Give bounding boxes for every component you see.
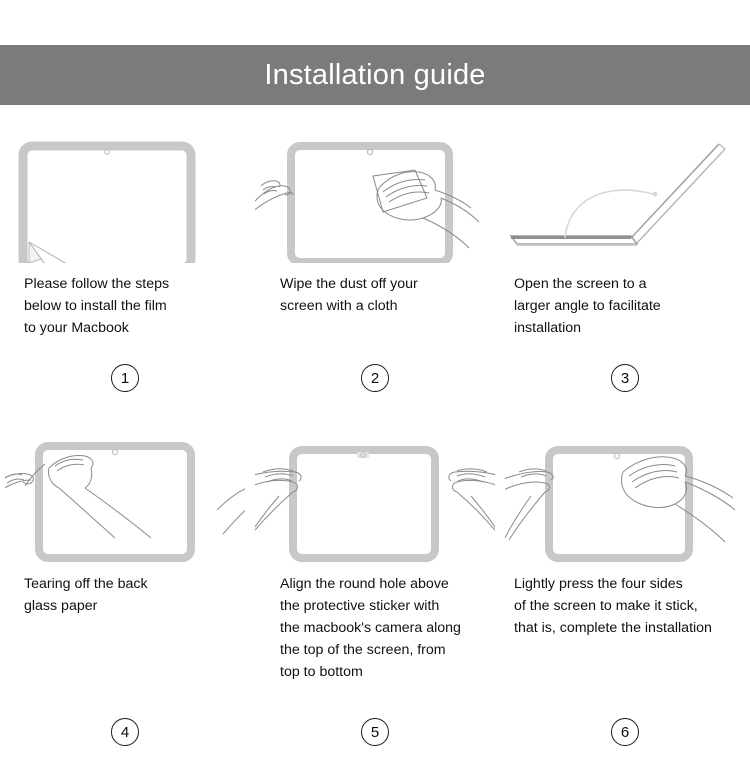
step-6: Lightly press the four sides of the scre…	[500, 420, 750, 760]
step-number-badge: 2	[361, 364, 389, 392]
step-1-number-wrap: 1	[0, 364, 250, 392]
step-6-number-wrap: 6	[500, 718, 750, 746]
step-3: Open the screen to a larger angle to fac…	[500, 120, 750, 420]
step-number-badge: 6	[611, 718, 639, 746]
step-4-caption: Tearing off the back glass paper	[0, 573, 250, 617]
step-5-number-wrap: 5	[250, 718, 500, 746]
step-1-illustration	[5, 138, 245, 263]
step-6-caption: Lightly press the four sides of the scre…	[500, 573, 750, 639]
step-4: Tearing off the back glass paper 4	[0, 420, 250, 760]
step-2: Wipe the dust off your screen with a clo…	[250, 120, 500, 420]
step-4-number-wrap: 4	[0, 718, 250, 746]
step-2-number-wrap: 2	[250, 364, 500, 392]
installation-guide-page: Installation guide Please follow the ste…	[0, 0, 750, 750]
step-5-caption: Align the round hole above the protectiv…	[250, 573, 500, 683]
step-2-caption: Wipe the dust off your screen with a clo…	[250, 273, 500, 317]
page-title: Installation guide	[264, 59, 485, 92]
step-3-number-wrap: 3	[500, 364, 750, 392]
step-5: Align the round hole above the protectiv…	[250, 420, 500, 760]
step-4-illustration	[5, 438, 245, 563]
two-hands-aligning-film-icon	[255, 450, 495, 558]
hands-wiping-screen-with-cloth-icon	[255, 146, 479, 262]
step-number-badge: 4	[111, 718, 139, 746]
hands-pressing-film-sides-icon	[505, 450, 735, 558]
step-number-badge: 1	[111, 364, 139, 392]
steps-grid: Please follow the steps below to install…	[0, 120, 750, 760]
step-number-badge: 5	[361, 718, 389, 746]
hands-tearing-back-paper-icon	[5, 446, 245, 558]
step-3-illustration	[505, 138, 745, 263]
laptop-opened-at-angle-icon	[511, 144, 725, 246]
step-1-caption: Please follow the steps below to install…	[0, 273, 250, 339]
header-band: Installation guide	[0, 45, 750, 105]
step-number-badge: 3	[611, 364, 639, 392]
screen-with-peeling-film-corner-icon	[23, 146, 191, 263]
step-1: Please follow the steps below to install…	[0, 120, 250, 420]
step-2-illustration	[255, 138, 495, 263]
step-3-caption: Open the screen to a larger angle to fac…	[500, 273, 750, 339]
step-5-illustration	[255, 438, 495, 563]
step-6-illustration	[505, 438, 745, 563]
